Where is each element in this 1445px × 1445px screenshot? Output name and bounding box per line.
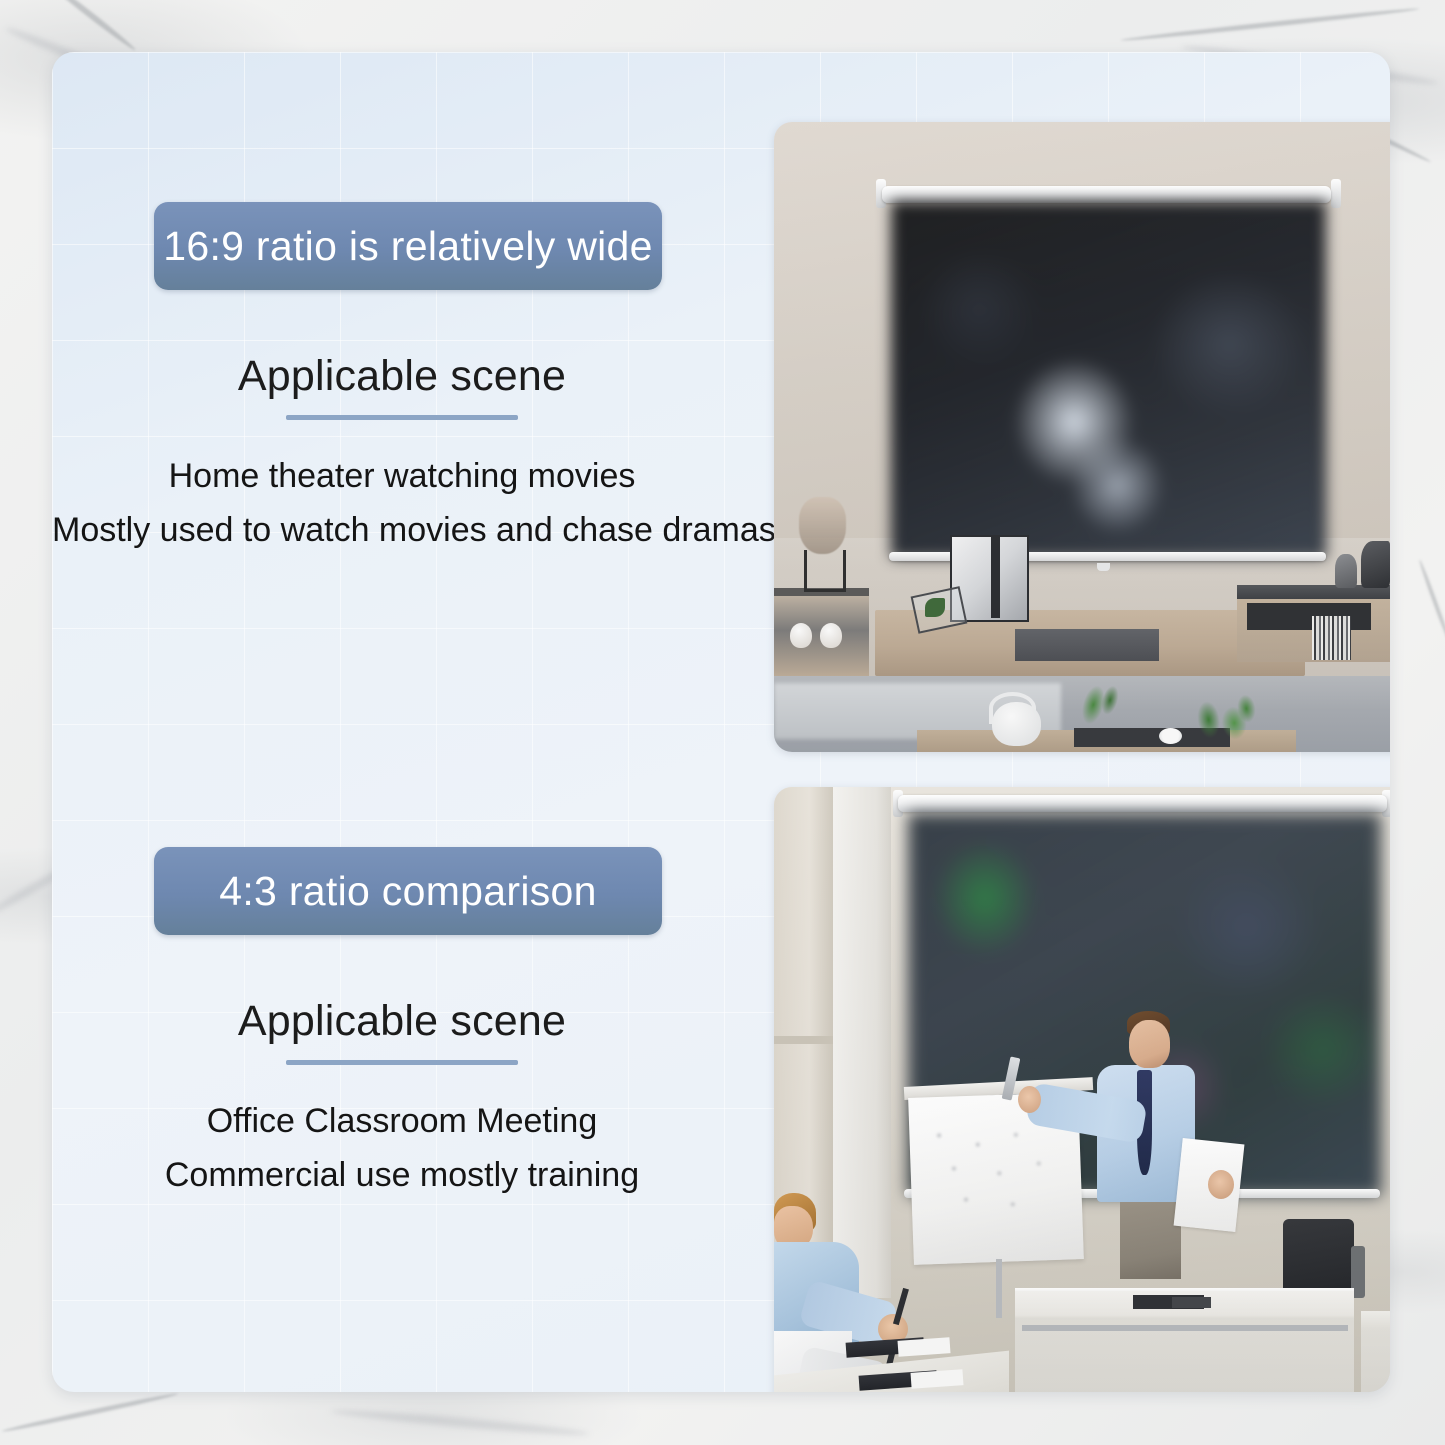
screen-roller-casing: [898, 795, 1387, 812]
presenter-hand-holding-document: [1208, 1170, 1234, 1199]
scene-line: Commercial use mostly training: [52, 1149, 752, 1203]
scene-heading-16-9: Applicable scene: [52, 352, 752, 401]
right-cabinet-opening: [1247, 603, 1371, 629]
ratio-4-3-pill: 4:3 ratio comparison: [154, 847, 662, 935]
scene-line: Home theater watching movies: [52, 450, 752, 504]
scene-heading-4-3: Applicable scene: [52, 997, 752, 1046]
screen-pull-knob: [1097, 563, 1110, 571]
presenter-legs: [1120, 1197, 1182, 1279]
white-teapot: [992, 702, 1041, 746]
table-lamp-glass: [799, 497, 846, 554]
screen-bracket-right: [1331, 179, 1341, 208]
main-table-rail: [1022, 1325, 1348, 1331]
marble-vein: [330, 1407, 590, 1439]
wall-pillar-front: [833, 787, 892, 1298]
scene-divider-16-9: [286, 415, 518, 420]
scene-lines-16-9: Home theater watching movies Mostly used…: [52, 450, 752, 557]
right-side-table: [1361, 1311, 1390, 1392]
desk-paper: [897, 1337, 950, 1356]
tall-dark-vase: [1361, 541, 1390, 588]
infographic-page: 16:9 ratio is relatively wide Applicable…: [0, 0, 1445, 1445]
monstera-leaf: [1181, 684, 1266, 751]
presenter-head: [1129, 1020, 1169, 1068]
marble-vein: [39, 0, 137, 52]
short-grey-vase: [1335, 554, 1357, 588]
picture-frame-divider: [991, 535, 1000, 618]
scene-divider-4-3: [286, 1060, 518, 1065]
flipchart-stand: [996, 1259, 1002, 1318]
ratio-16-9-pill: 16:9 ratio is relatively wide: [154, 202, 662, 290]
marble-vein: [1121, 6, 1420, 42]
scene-line: Mostly used to watch movies and chase dr…: [52, 504, 752, 558]
scene-block-16-9: Applicable scene Home theater watching m…: [52, 352, 752, 558]
meeting-room-photo: [774, 787, 1390, 1392]
projection-screen-16-9: [891, 201, 1325, 558]
marble-vein: [1, 1391, 178, 1433]
scene-block-4-3: Applicable scene Office Classroom Meetin…: [52, 997, 752, 1203]
flipchart-notes: [922, 1119, 1062, 1229]
table-lamp-stand: [804, 550, 847, 592]
decor-vase: [790, 623, 812, 648]
books-stack: [1312, 616, 1351, 660]
wall-pillar-back: [774, 787, 833, 1259]
scene-lines-4-3: Office Classroom Meeting Commercial use …: [52, 1095, 752, 1202]
table-equipment-detail: [1172, 1297, 1211, 1308]
terrarium-leaf: [925, 598, 945, 617]
console-drawer: [1015, 629, 1158, 662]
wall-trim: [774, 1036, 833, 1044]
home-theater-photo: [774, 122, 1390, 752]
decor-vase: [820, 623, 842, 648]
scene-line: Office Classroom Meeting: [52, 1095, 752, 1149]
screen-roller-casing: [882, 186, 1332, 202]
product-info-card: 16:9 ratio is relatively wide Applicable…: [52, 52, 1390, 1392]
text-column: 16:9 ratio is relatively wide Applicable…: [52, 52, 752, 1392]
marble-vein: [1418, 559, 1445, 645]
